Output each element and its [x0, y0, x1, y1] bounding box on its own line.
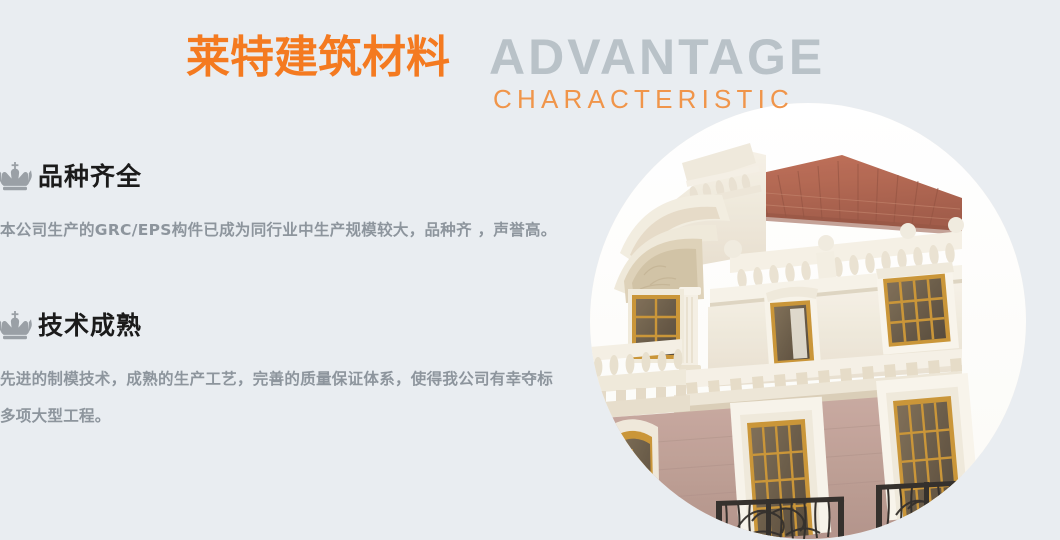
feature-description: 本公司生产的GRC/EPS构件已成为同行业中生产规模较大，品种齐 ，声誉高。 — [0, 212, 560, 249]
feature-item: 技术成熟 先进的制模技术，成熟的生产工艺，完善的质量保证体系，使得我公司有幸夺标… — [0, 309, 575, 435]
villa-building-photo — [590, 103, 1026, 539]
feature-item: 品种齐全 本公司生产的GRC/EPS构件已成为同行业中生产规模较大，品种齐 ，声… — [0, 160, 575, 249]
feature-heading: 技术成熟 — [0, 309, 575, 343]
feature-list: 品种齐全 本公司生产的GRC/EPS构件已成为同行业中生产规模较大，品种齐 ，声… — [0, 160, 575, 435]
feature-title: 技术成熟 — [38, 311, 142, 341]
page-title-chinese: 莱特建筑材料 — [186, 33, 450, 83]
crown-icon — [0, 162, 32, 192]
advantage-banner: 莱特建筑材料 ADVANTAGE CHARACTERISTIC 品种 — [0, 0, 1060, 540]
feature-title: 品种齐全 — [38, 162, 142, 192]
villa-illustration — [590, 103, 1026, 539]
feature-description: 先进的制模技术，成熟的生产工艺，完善的质量保证体系，使得我公司有幸夺标多项大型工… — [0, 361, 560, 435]
page-subtitle-english: CHARACTERISTIC — [493, 84, 794, 114]
photo-clip — [590, 103, 1026, 539]
feature-heading: 品种齐全 — [0, 160, 575, 194]
page-title-english: ADVANTAGE — [489, 28, 825, 86]
crown-icon — [0, 311, 32, 341]
